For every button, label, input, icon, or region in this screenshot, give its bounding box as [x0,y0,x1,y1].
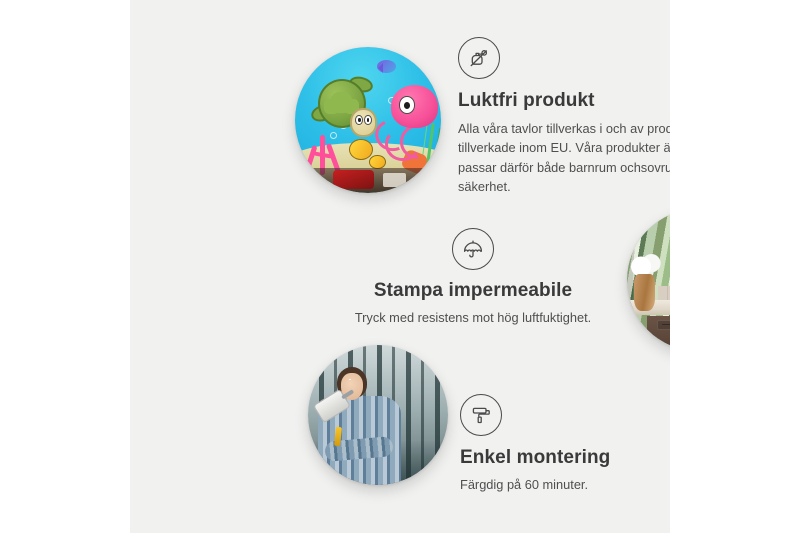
no-fragrance-icon [458,37,500,79]
yellow-fish-icon [349,139,373,160]
feature-body: Alla våra tavlor tillverkas i och av pro… [458,119,670,197]
content-panel: Luktfri produkt Alla våra tavlor tillver… [130,0,670,533]
product-photo-bathroom[interactable] [627,209,670,351]
drawer-handle [662,324,670,325]
feature-body: Tryck med resistens mot hög luftfuktighe… [328,308,618,327]
product-feature-banner: Luktfri produkt Alla våra tavlor tillver… [0,0,800,533]
bathroom-scene [627,209,670,351]
feature-body: Färgdig på 60 minuter. [460,475,670,494]
turtle-icon [313,79,380,140]
feature-title: Enkel montering [460,446,670,470]
blue-fish-icon [377,60,396,73]
feature-title: Stampa impermeabile [328,279,618,303]
woman-figure [316,365,403,485]
feature-odourless: Luktfri produkt Alla våra tavlor tillver… [458,37,670,197]
umbrella-icon [452,228,494,270]
paint-roller-icon [460,394,502,436]
feature-mounting: Enkel montering Färgdig på 60 minuter. [460,394,670,494]
vanity-cabinet [647,316,670,352]
feature-waterproof: Stampa impermeabile Tryck med resistens … [328,228,618,327]
feature-icon-wrap [328,228,618,279]
photo-bottom-strip [295,168,441,193]
octopus-icon [374,85,438,155]
painter-scene [308,345,448,485]
vase-icon [634,274,655,311]
underwater-scene [295,47,441,193]
product-photo-underwater[interactable] [295,47,441,193]
feature-title: Luktfri produkt [458,89,670,113]
product-photo-painter[interactable] [308,345,448,485]
yellow-fish-icon [369,155,386,169]
